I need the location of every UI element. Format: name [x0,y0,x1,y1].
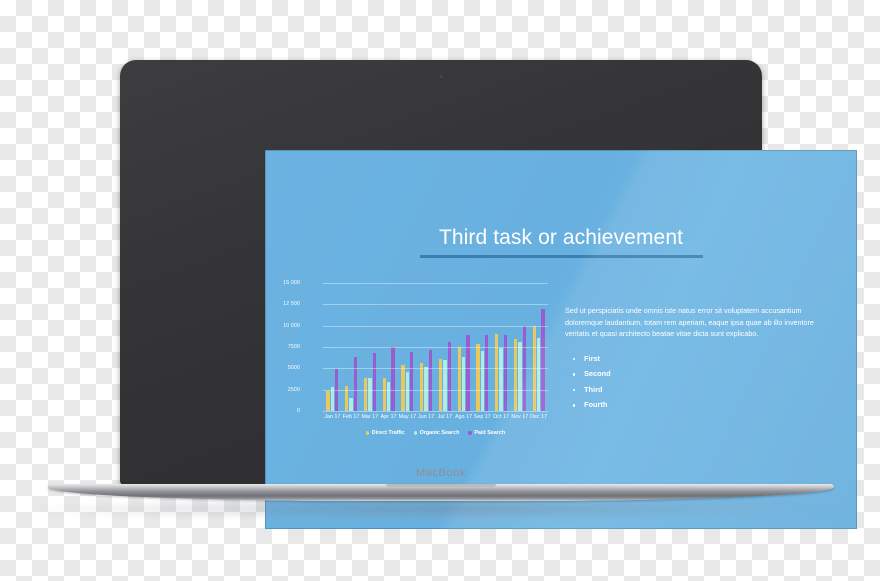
chart-legend-label: Paid Search [474,430,505,436]
chart-bar [429,350,432,411]
chart-bar [448,342,451,411]
chart-bar [354,357,357,411]
chart-x-axis-label: Jul 17 [436,414,455,420]
list-item: Second [573,369,830,378]
chart-legend-item: Direct Traffic [366,430,405,436]
chart-bar [420,363,423,411]
chart-gridline [323,390,548,391]
laptop-base-shadow [40,498,840,520]
legend-swatch-icon [468,431,471,434]
chart-bar [518,342,521,411]
chart-plot-area: 025005000750010 00012 50015 000 [323,283,548,411]
chart-x-axis-label: Dec 17 [529,414,548,420]
chart-x-axis-label: May 17 [398,414,417,420]
chart-bar [476,344,479,411]
chart-bar [368,378,371,411]
chart-bar [514,339,517,411]
chart-bar [439,359,442,411]
chart-bar [458,347,461,411]
webcam-dot-icon [439,74,444,79]
chart-legend-item: Organic Search [414,430,460,436]
chart-bar [481,351,484,411]
bullet-list: FirstSecondThirdFourth [565,354,830,410]
page-title: Third task or achievement [265,226,857,250]
chart-legend-label: Organic Search [420,430,460,436]
chart-x-axis-labels: Jan 17Feb 17Mar 17Apr 17May 17Jun 17Jul … [323,414,548,420]
legend-swatch-icon [366,431,369,434]
chart-y-axis-label: 15 000 [283,280,300,286]
macbook-device: Third task or achievement 02500500075001… [0,0,880,581]
chart-x-axis-label: Nov 17 [511,414,530,420]
chart-y-axis-label: 5000 [288,365,300,371]
chart-x-axis-label: Jan 17 [323,414,342,420]
chart-x-axis-label: Apr 17 [379,414,398,420]
chart-bar [383,378,386,411]
chart-bar [387,382,390,411]
chart-gridline [323,326,548,327]
chart-bar [401,365,404,412]
chart-bar [537,338,540,411]
list-item: Third [573,385,830,394]
chart-bar [364,378,367,411]
chart-x-axis-label: Jun 17 [417,414,436,420]
chart-x-axis-label: Mar 17 [361,414,380,420]
chart-gridline [323,411,548,412]
chart-legend: Direct TrafficOrganic SearchPaid Search [323,430,548,436]
laptop-lid: Third task or achievement 02500500075001… [120,60,762,485]
chart-bar [391,347,394,411]
chart-bar [349,398,352,411]
legend-swatch-icon [414,431,417,434]
chart-y-axis-label: 12 500 [283,301,300,307]
chart-bar [326,391,329,411]
chart-gridline [323,283,548,284]
chart-gridline [323,347,548,348]
list-item: Fourth [573,400,830,409]
list-item: First [573,354,830,363]
title-underline-rule [420,255,703,258]
chart-bar [499,348,502,411]
chart-x-axis-label: Oct 17 [492,414,511,420]
screenshot-canvas: Third task or achievement 02500500075001… [0,0,880,581]
chart-legend-item: Paid Search [468,430,505,436]
chart-gridline [323,304,548,305]
chart-legend-label: Direct Traffic [372,430,405,436]
chart-bar [410,352,413,411]
chart-bar [495,334,498,411]
chart-x-axis-label: Feb 17 [342,414,361,420]
chart-y-axis-label: 2500 [288,387,300,393]
chart-x-axis-label: Ago 17 [454,414,473,420]
body-paragraph: Sed ut perspiciatis unde omnis iste natu… [565,305,820,340]
slide-text-panel: Sed ut perspiciatis unde omnis iste natu… [565,305,830,416]
chart-y-axis-label: 10 000 [283,323,300,329]
macbook-brand-label: MacBook [120,467,762,479]
laptop-base-notch [386,484,496,487]
chart-x-axis-label: Sep 17 [473,414,492,420]
chart-bar [462,357,465,411]
chart-bar [406,372,409,411]
chart-y-axis-label: 7500 [288,344,300,350]
chart-bar [373,353,376,411]
chart-gridline [323,368,548,369]
chart-y-axis-label: 0 [297,408,300,414]
